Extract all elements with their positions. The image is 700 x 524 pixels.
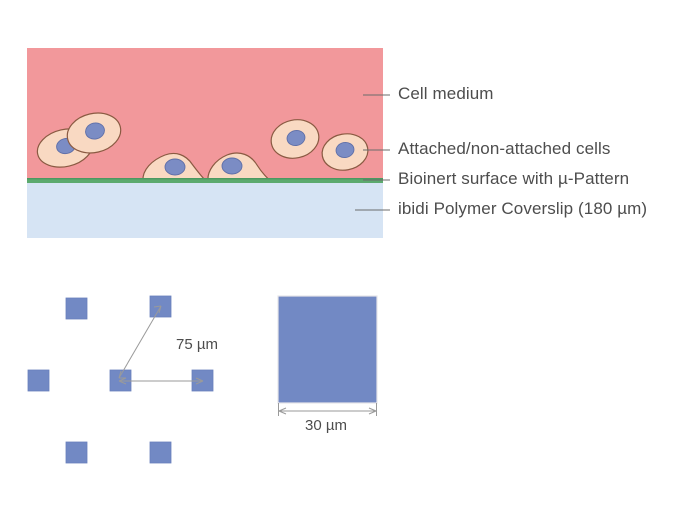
label-attached-non-attached-cells: Attached/non-attached cells [398,139,611,159]
spacing-arrow-diagonal [119,306,161,378]
bioinert-surface-line-highlight [27,178,383,179]
label-cell-medium: Cell medium [398,84,494,104]
cell-nucleus [222,158,242,174]
pattern-square [28,370,49,391]
label-bioinert-surface: Bioinert surface with µ-Pattern [398,169,629,189]
dimension-label-square-size: 30 µm [305,417,347,434]
dimension-label-spacing: 75 µm [176,336,218,353]
cross-section-panel [27,48,383,238]
pattern-square [66,298,87,319]
schematic-svg [0,0,700,524]
enlarged-pattern-square [278,296,377,403]
label-polymer-coverslip: ibidi Polymer Coverslip (180 µm) [398,199,647,219]
figure-canvas: Cell medium Attached/non-attached cells … [0,0,700,524]
cell-nucleus [165,159,185,175]
pattern-square [150,442,171,463]
enlarged-square-detail [278,296,377,416]
polymer-coverslip-region [27,183,383,238]
pattern-square [66,442,87,463]
micropattern-array [28,296,213,463]
